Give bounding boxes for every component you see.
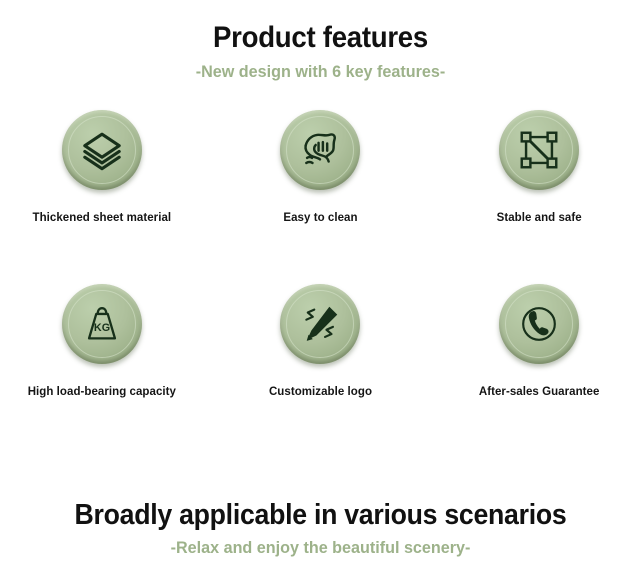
feature-item-easy-to-clean: Easy to clean: [220, 110, 420, 284]
feature-icon-badge: [62, 110, 142, 190]
feature-icon-badge: KG: [62, 284, 142, 364]
feature-item-thickened-sheet-material: Thickened sheet material: [2, 110, 202, 284]
feature-item-customizable-logo: Customizable logo: [220, 284, 420, 458]
feature-icon-badge: [280, 110, 360, 190]
feature-label: Thickened sheet material: [33, 212, 172, 224]
feature-label: High load-bearing capacity: [28, 386, 176, 398]
feature-grid: Thickened sheet material Easy to clean: [0, 110, 641, 458]
kg-weight-label: KG: [94, 322, 110, 334]
feature-icon-badge: [280, 284, 360, 364]
scenarios-header: Broadly applicable in various scenarios …: [0, 500, 641, 558]
feature-label: After-sales Guarantee: [479, 386, 600, 398]
hand-wiping-cloth-icon: [297, 127, 343, 173]
stacked-layers-icon: [79, 127, 125, 173]
feature-item-after-sales-guarantee: After-sales Guarantee: [439, 284, 639, 458]
scenarios-title: Broadly applicable in various scenarios: [26, 500, 616, 530]
braced-frame-icon: [516, 127, 562, 173]
page-title: Product features: [26, 22, 616, 54]
feature-label: Stable and safe: [497, 212, 582, 224]
feature-label: Easy to clean: [283, 212, 357, 224]
telephone-handset-icon: [516, 301, 562, 347]
kg-weight-icon: KG: [79, 301, 125, 347]
scenarios-subtitle: -Relax and enjoy the beautiful scenery-: [16, 539, 625, 558]
feature-item-stable-and-safe: Stable and safe: [439, 110, 639, 284]
page-subtitle: -New design with 6 key features-: [16, 63, 625, 82]
feature-item-high-load-bearing-capacity: KG High load-bearing capacity: [2, 284, 202, 458]
feature-label: Customizable logo: [269, 386, 372, 398]
product-features-header: Product features -New design with 6 key …: [0, 22, 641, 81]
feature-icon-badge: [499, 284, 579, 364]
pencil-design-icon: [297, 301, 343, 347]
feature-icon-badge: [499, 110, 579, 190]
